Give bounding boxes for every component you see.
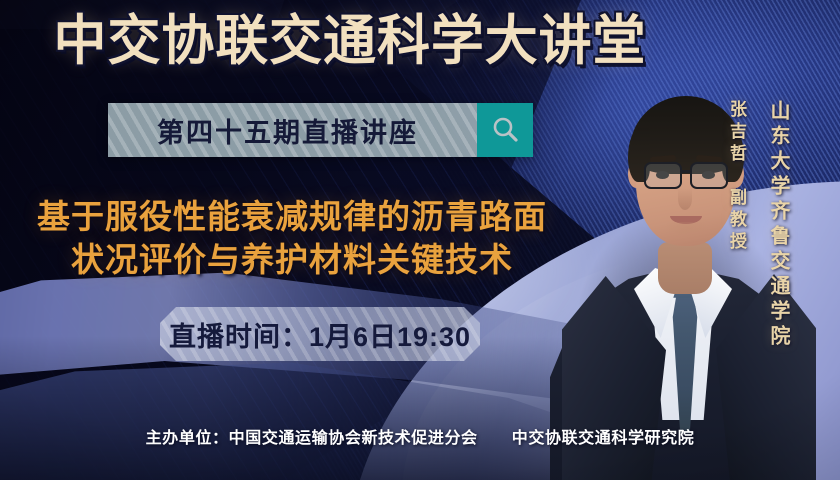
speaker-organization: 山东大学齐鲁交通学院 bbox=[764, 100, 793, 350]
eyeglasses-bridge bbox=[681, 170, 691, 173]
footer-institute: 中交协联交通科学研究院 bbox=[512, 430, 695, 447]
subject-title-line2: 状况评价与养护材料关键技术 bbox=[14, 239, 570, 282]
episode-search-bar[interactable]: 第四十五期直播讲座 bbox=[108, 103, 533, 157]
speaker-portrait bbox=[566, 70, 796, 480]
speaker-name-title: 张吉哲 副教授 bbox=[724, 100, 749, 254]
search-icon bbox=[490, 115, 520, 145]
neck bbox=[658, 242, 712, 294]
subject-title-line1: 基于服役性能衰减规律的沥青路面 bbox=[37, 197, 547, 236]
footer-organizer: 主办单位：中国交通运输协会新技术促进分会 bbox=[146, 430, 478, 447]
subject-title: 基于服役性能衰减规律的沥青路面 状况评价与养护材料关键技术 bbox=[14, 196, 570, 282]
footer: 主办单位：中国交通运输协会新技术促进分会 中交协联交通科学研究院 bbox=[0, 424, 840, 448]
search-button[interactable] bbox=[477, 103, 533, 157]
chin-highlight bbox=[654, 222, 718, 248]
page-title: 中交协联交通科学大讲堂 bbox=[7, 14, 693, 68]
broadcast-time-text: 直播时间：1月6日19:30 bbox=[169, 315, 471, 354]
episode-label: 第四十五期直播讲座 bbox=[108, 103, 477, 157]
eyeglasses-lens-left bbox=[644, 162, 682, 189]
broadcast-time-badge: 直播时间：1月6日19:30 bbox=[160, 307, 480, 361]
eyeglasses-lens-right bbox=[690, 162, 728, 189]
nose bbox=[678, 188, 692, 210]
live-lecture-poster: 中交协联交通科学大讲堂 第四十五期直播讲座 基于服役性能衰减规律的沥青路面 状况… bbox=[0, 0, 840, 480]
